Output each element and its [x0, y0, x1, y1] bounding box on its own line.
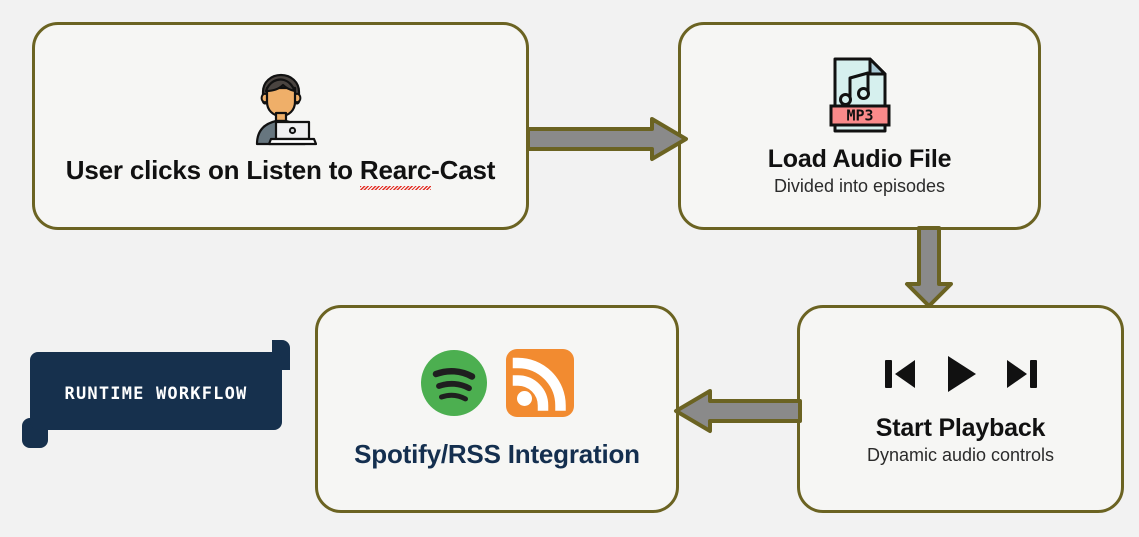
- person-at-laptop-icon: [245, 66, 317, 146]
- workflow-diagram: User clicks on Listen to Rearc-Cast MP3 …: [0, 0, 1139, 537]
- spotify-and-rss-icon: [419, 348, 575, 418]
- playback-controls-icon: [882, 352, 1040, 396]
- spotify-icon: [419, 348, 489, 418]
- node-load-audio-file[interactable]: MP3 Load Audio File Divided into episode…: [678, 22, 1041, 230]
- node-title: Start Playback: [876, 414, 1046, 443]
- node-title-part2: -Cast: [431, 155, 495, 185]
- node-subtitle: Dynamic audio controls: [867, 445, 1054, 466]
- node-title: User clicks on Listen to Rearc-Cast: [66, 156, 495, 186]
- node-title: Spotify/RSS Integration: [354, 440, 640, 470]
- node-user-clicks[interactable]: User clicks on Listen to Rearc-Cast: [32, 22, 529, 230]
- node-title: Load Audio File: [768, 145, 952, 174]
- node-title-part1: User clicks on Listen to: [66, 155, 360, 185]
- rss-icon: [505, 348, 575, 418]
- connector-load-to-play: [900, 226, 958, 308]
- next-track-icon: [1002, 354, 1040, 394]
- previous-track-icon: [882, 354, 920, 394]
- node-start-playback[interactable]: Start Playback Dynamic audio controls: [797, 305, 1124, 513]
- node-title-misspelled-word: Rearc: [360, 156, 431, 186]
- mp3-file-icon: MP3: [827, 55, 893, 135]
- runtime-workflow-banner: RUNTIME WORKFLOW: [22, 340, 290, 448]
- node-spotify-rss-integration[interactable]: Spotify/RSS Integration: [315, 305, 679, 513]
- connector-play-to-spotify: [672, 387, 802, 435]
- mp3-label: MP3: [846, 106, 873, 124]
- connector-user-to-load: [526, 115, 688, 163]
- node-subtitle: Divided into episodes: [774, 176, 945, 197]
- play-icon: [942, 352, 980, 396]
